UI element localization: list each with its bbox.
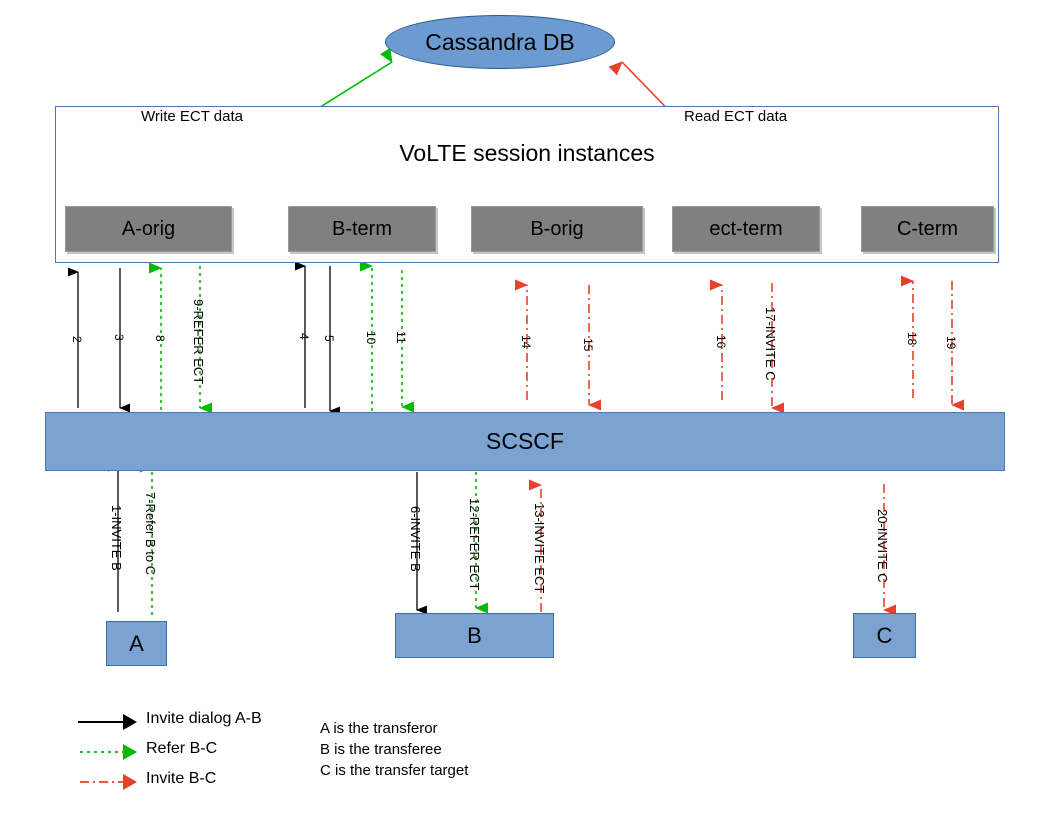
upper-arrow-group [78, 266, 952, 411]
arrow-label-6-invite-b: 6-INVITE B [408, 506, 423, 572]
session-instance-a-orig[interactable]: A-orig [65, 206, 232, 252]
session-instance-b-orig[interactable]: B-orig [471, 206, 643, 252]
session-instance-c-term[interactable]: C-term [861, 206, 994, 252]
session-instance-b-term[interactable]: B-term [288, 206, 436, 252]
legend-swatch-invite-dialog [78, 712, 140, 730]
legend-swatch-invite-bc [78, 772, 140, 790]
arrow-label-2: 2 [70, 336, 84, 343]
legend-swatch-refer [78, 742, 140, 760]
arrow-label-19: 19 [944, 336, 958, 349]
arrow-label-5: 5 [322, 335, 336, 342]
scscf-node[interactable]: SCSCF [45, 412, 1005, 471]
arrow-label-3: 3 [112, 334, 126, 341]
role-line-a: A is the transferor [320, 718, 468, 739]
scscf-label: SCSCF [486, 428, 564, 455]
arrow-label-7-refer-b-to-c: 7-Refer B to C [143, 492, 158, 575]
endpoint-b[interactable]: B [395, 613, 554, 658]
session-instance-label: B-term [332, 218, 392, 241]
arrow-label-10: 10 [364, 331, 378, 344]
cassandra-db-label: Cassandra DB [425, 29, 575, 56]
session-instance-label: ect-term [709, 218, 782, 241]
arrow-label-17-invite-c: 17-INVITE C [763, 307, 778, 381]
arrow-label-20-invite-c: 20-INVITE C [875, 509, 890, 583]
arrow-label-14: 14 [519, 335, 533, 348]
role-line-b: B is the transferee [320, 739, 468, 760]
arrow-label-13-invite-ect: 13-INVITE ECT [532, 503, 547, 593]
arrow-label-8: 8 [153, 335, 167, 342]
session-instance-label: B-orig [530, 218, 583, 241]
arrow-label-16: 16 [714, 335, 728, 348]
lower-arrow-group [118, 467, 884, 615]
endpoint-label: A [129, 631, 144, 657]
session-instance-ect-term[interactable]: ect-term [672, 206, 820, 252]
endpoint-c[interactable]: C [853, 613, 916, 658]
arrow-label-18: 18 [905, 332, 919, 345]
volte-container-title: VoLTE session instances [55, 140, 999, 167]
session-instance-label: C-term [897, 218, 958, 241]
endpoint-a[interactable]: A [106, 621, 167, 666]
cassandra-db-node[interactable]: Cassandra DB [385, 15, 615, 69]
read-ect-data-label: Read ECT data [684, 108, 787, 125]
arrow-label-4: 4 [297, 333, 311, 340]
session-instance-label: A-orig [122, 218, 175, 241]
arrow-label-15: 15 [581, 338, 595, 351]
arrow-label-11: 11 [394, 331, 408, 343]
endpoint-label: B [467, 623, 482, 649]
role-line-c: C is the transfer target [320, 760, 468, 781]
legend-label: Invite dialog A-B [146, 710, 262, 728]
write-ect-data-label: Write ECT data [141, 108, 243, 125]
arrow-label-1-invite-b: 1-INVITE B [109, 505, 124, 571]
legend-label: Invite B-C [146, 770, 216, 788]
endpoint-label: C [877, 623, 893, 649]
arrow-label-9-refer-ect: 9-REFER ECT [191, 299, 206, 384]
legend-label: Refer B-C [146, 740, 217, 758]
role-legend: A is the transferor B is the transferee … [320, 718, 468, 781]
arrow-label-12-refer-ect: 12-REFER ECT [467, 498, 482, 590]
diagram-canvas: Cassandra DB VoLTE session instances Wri… [0, 0, 1056, 816]
